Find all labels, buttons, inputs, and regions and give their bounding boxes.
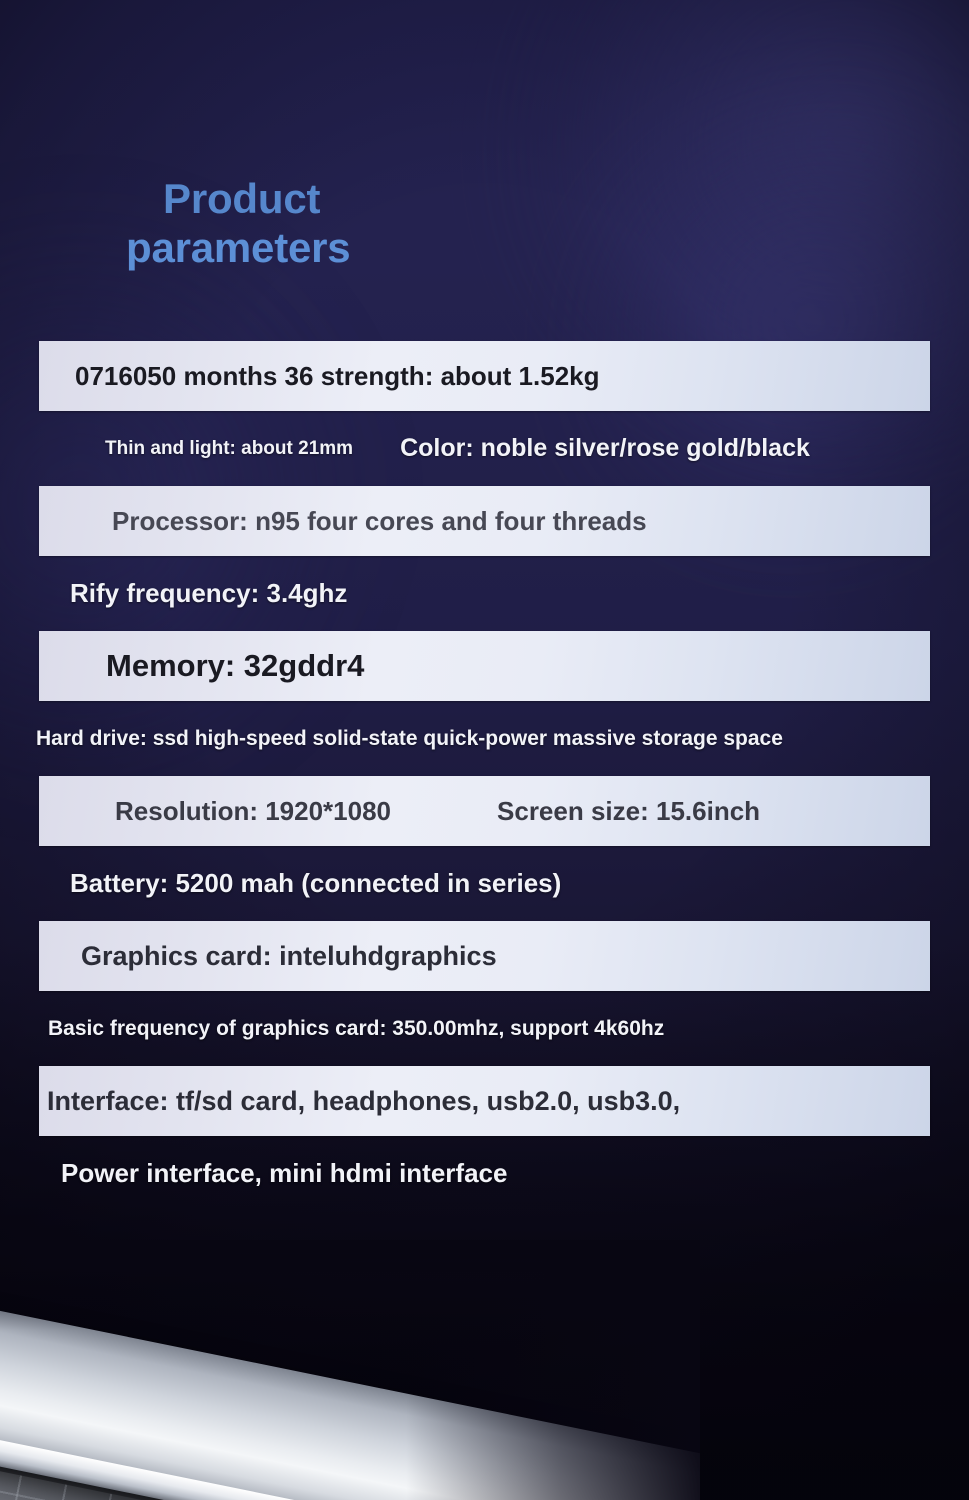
spec-row-graphics-frequency: Basic frequency of graphics card: 350.00… — [0, 991, 969, 1066]
spec-value-hard-drive: Hard drive: ssd high-speed solid-state q… — [0, 727, 783, 751]
page-title-line-2: parameters — [0, 227, 969, 269]
spec-row-battery: Battery: 5200 mah (connected in series) — [0, 846, 969, 921]
spec-row-resolution-screen-size: Resolution: 1920*1080 Screen size: 15.6i… — [39, 776, 930, 846]
spec-value-processor: Processor: n95 four cores and four threa… — [39, 506, 647, 537]
spec-value-model-warranty-weight: 0716050 months 36 strength: about 1.52kg — [39, 361, 600, 392]
page-title: Product parameters — [0, 178, 969, 269]
spec-row-model-warranty-weight: 0716050 months 36 strength: about 1.52kg — [39, 341, 930, 411]
spec-value-memory: Memory: 32gddr4 — [39, 648, 364, 684]
product-parameters-page: Product parameters 0716050 months 36 str… — [0, 0, 969, 1500]
spec-value-thickness: Thin and light: about 21mm — [105, 438, 353, 460]
spec-value-resolution: Resolution: 1920*1080 — [39, 796, 391, 827]
page-title-line-1: Product — [0, 178, 969, 220]
spec-row-frequency: Rify frequency: 3.4ghz — [0, 556, 969, 631]
spec-list: 0716050 months 36 strength: about 1.52kg… — [0, 341, 969, 1211]
spec-value-interface: Interface: tf/sd card, headphones, usb2.… — [39, 1086, 680, 1117]
spec-row-processor: Processor: n95 four cores and four threa… — [39, 486, 930, 556]
spec-row-graphics-card: Graphics card: inteluhdgraphics — [39, 921, 930, 991]
laptop-photo — [0, 1240, 700, 1500]
spec-row-memory: Memory: 32gddr4 — [39, 631, 930, 701]
spec-value-screen-size: Screen size: 15.6inch — [421, 796, 760, 827]
spec-value-battery: Battery: 5200 mah (connected in series) — [70, 868, 561, 899]
laptop-fade-right — [0, 1240, 700, 1500]
spec-row-hard-drive: Hard drive: ssd high-speed solid-state q… — [0, 701, 969, 776]
spec-row-interface: Interface: tf/sd card, headphones, usb2.… — [39, 1066, 930, 1136]
spec-row-thickness-color: Thin and light: about 21mm Color: noble … — [0, 411, 969, 486]
spec-value-color: Color: noble silver/rose gold/black — [400, 434, 810, 463]
spec-row-interface-continued: Power interface, mini hdmi interface — [0, 1136, 969, 1211]
spec-value-interface-continued: Power interface, mini hdmi interface — [61, 1158, 507, 1189]
spec-value-frequency: Rify frequency: 3.4ghz — [70, 578, 347, 609]
spec-value-graphics-card: Graphics card: inteluhdgraphics — [39, 941, 497, 972]
spec-value-graphics-frequency: Basic frequency of graphics card: 350.00… — [0, 1017, 664, 1041]
